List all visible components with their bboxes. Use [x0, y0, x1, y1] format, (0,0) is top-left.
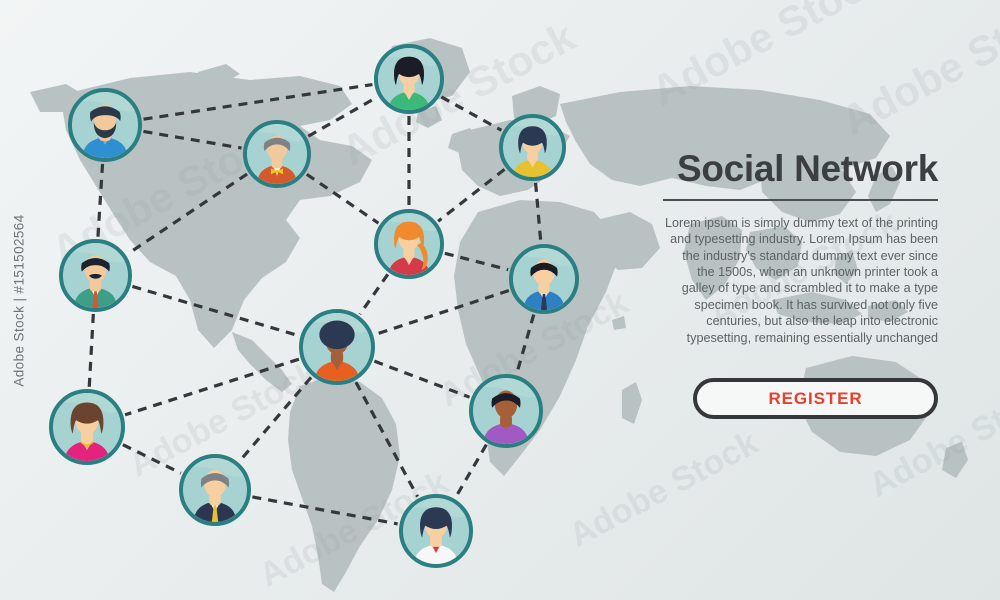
avatar-node-woman-green-top[interactable]	[374, 44, 444, 114]
network-link	[98, 164, 103, 237]
avatar-node-man-blue-suit[interactable]	[509, 244, 579, 314]
network-link	[252, 497, 397, 524]
avatar-node-woman-pink-dress[interactable]	[49, 389, 125, 465]
info-panel: Social Network Lorem ipsum is simply dum…	[663, 150, 938, 419]
avatar-node-man-navy-suit-yellow-tie[interactable]	[179, 454, 251, 526]
network-link	[89, 314, 93, 387]
network-link	[132, 286, 298, 335]
description-text: Lorem ipsum is simply dummy text of the …	[663, 215, 938, 346]
network-link	[307, 174, 379, 223]
network-link	[536, 183, 541, 242]
avatar-node-woman-red-top-ginger[interactable]	[374, 209, 444, 279]
avatar-node-woman-yellow-top[interactable]	[499, 114, 566, 181]
avatar-node-man-orange-jacket-bowtie[interactable]	[243, 120, 311, 188]
title-divider	[663, 199, 938, 201]
avatar-node-woman-afro-orange-top[interactable]	[299, 309, 375, 385]
network-link	[356, 382, 418, 496]
network-link	[375, 291, 509, 335]
network-link	[127, 174, 247, 254]
network-link	[441, 97, 501, 130]
network-link	[123, 445, 181, 474]
avatar-node-man-green-suit-mustache[interactable]	[59, 239, 132, 312]
avatar-node-man-purple-shirt[interactable]	[469, 374, 543, 448]
page-title: Social Network	[663, 150, 938, 189]
network-link	[517, 315, 534, 374]
network-link	[125, 359, 299, 415]
network-link	[374, 361, 469, 397]
network-link	[240, 377, 311, 461]
network-link	[360, 274, 388, 314]
avatar-node-woman-white-top[interactable]	[399, 494, 473, 568]
social-network-banner: Adobe Stock Adobe Stock Adobe Stock Adob…	[0, 0, 1000, 600]
network-link	[144, 85, 373, 120]
register-button[interactable]: REGISTER	[693, 378, 938, 419]
network-link	[438, 169, 504, 221]
register-button-wrap: REGISTER	[663, 378, 938, 419]
network-link	[143, 131, 241, 148]
network-link	[445, 253, 508, 269]
avatar-node-bearded-man-blue-shirt[interactable]	[68, 88, 142, 162]
network-link	[456, 445, 487, 498]
network-link	[308, 97, 377, 136]
